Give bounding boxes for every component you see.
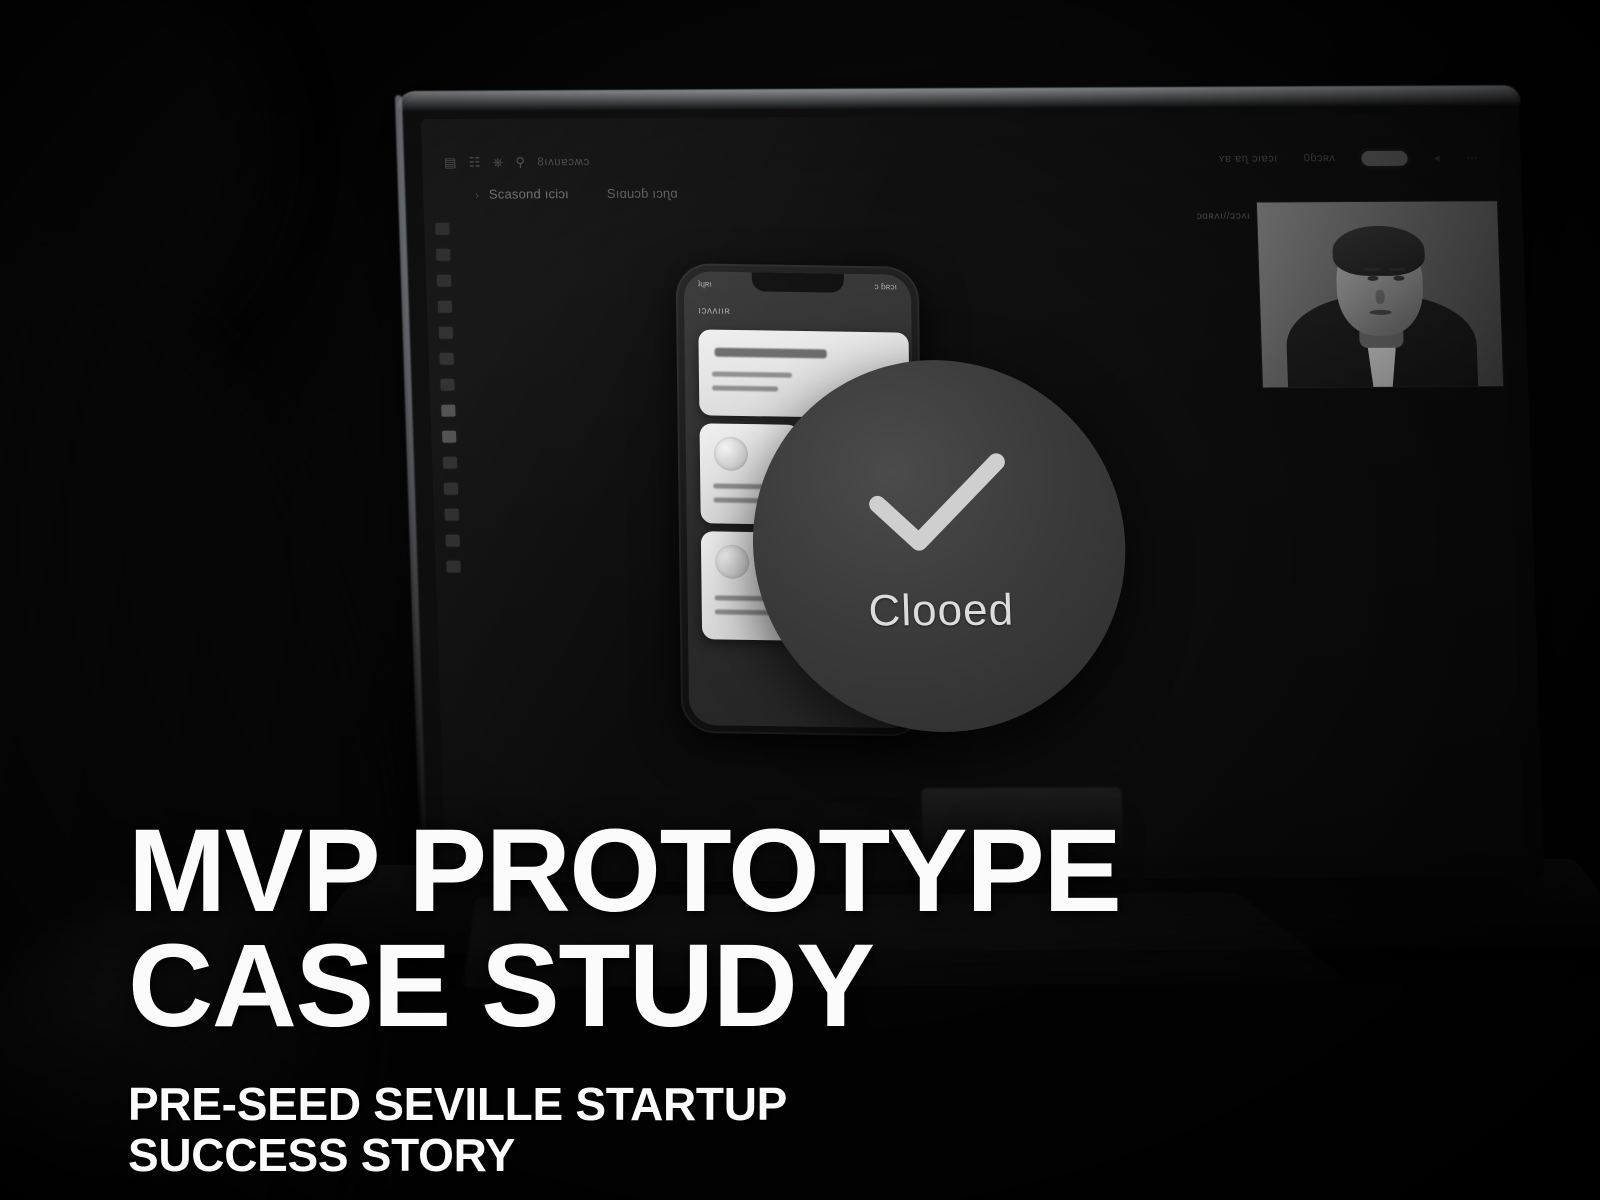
- toolbar-status-2: 0ɓɔʀʌ: [1304, 152, 1336, 164]
- mask-icon[interactable]: [443, 457, 457, 469]
- more-menu-icon[interactable]: ⋯: [1466, 150, 1479, 164]
- color-icon[interactable]: [445, 509, 459, 521]
- chevron-left-icon[interactable]: ◂: [1433, 151, 1440, 165]
- breadcrumb-item-1[interactable]: Scasond ıciɔı: [489, 186, 569, 201]
- video-call-tile[interactable]: [1257, 201, 1503, 387]
- headline-line-2: CASE STUDY: [128, 929, 1528, 1045]
- image-icon[interactable]: [442, 431, 456, 443]
- subhead-line-2: SUCCESS STORY: [128, 1130, 1528, 1182]
- participant-brow-right: [1390, 268, 1406, 271]
- toolbar-status-1: ʏɐ ɐɳ ɔıɐɔı: [1219, 152, 1278, 164]
- text-tool-icon[interactable]: [439, 327, 453, 339]
- feature-card-2-line-2: [715, 609, 773, 615]
- layers-icon[interactable]: ☷: [468, 155, 481, 171]
- participant-eye-left: [1367, 276, 1378, 281]
- phone-status-indicators: ɔ ɓʀɔı: [874, 281, 897, 291]
- headline-line-1: MVP PROTOTYPE: [128, 805, 1121, 937]
- pen-tool-icon[interactable]: [437, 275, 451, 287]
- participant-nose: [1375, 290, 1384, 304]
- subhead-line-1: PRE-SEED SEVILLE STARTUP: [128, 1078, 787, 1130]
- hero-card-heading: [715, 348, 827, 359]
- component-icon[interactable]: [440, 379, 454, 391]
- toolbar-right-group: ʏɐ ɐɳ ɔıɐɔı 0ɓɔʀʌ ◂ ⋯: [1219, 150, 1479, 166]
- hero-card-line-2: [712, 386, 778, 392]
- participant-brow-left: [1364, 268, 1380, 271]
- participant-eye-right: [1393, 276, 1404, 281]
- page-subtitle: PRE-SEED SEVILLE STARTUP SUCCESS STORY: [128, 1079, 1528, 1182]
- poster-text-block: MVP PROTOTYPE CASE STUDY PRE-SEED SEVILL…: [128, 814, 1528, 1200]
- move-tool-icon[interactable]: [435, 223, 449, 235]
- grid-icon[interactable]: [441, 405, 455, 417]
- phone-status-time: ʇɥʀı: [698, 278, 712, 288]
- shield-icon[interactable]: ⎈: [492, 155, 503, 171]
- feature-card-1-icon: [714, 437, 748, 472]
- page-title: MVP PROTOTYPE CASE STUDY: [128, 814, 1528, 1045]
- poster-canvas: ▤ ☷ ⎈ ⚲ 8ıʌʋɐɔʍɔ ʏɐ ɐɳ ɔıɐɔı 0ɓɔʀʌ ◂ ⋯ ›…: [0, 0, 1600, 1200]
- settings-icon[interactable]: [446, 561, 460, 573]
- search-icon[interactable]: ⚲: [515, 154, 525, 170]
- checkmark-icon: [860, 450, 1015, 553]
- share-pill-button[interactable]: [1361, 150, 1408, 165]
- hero-card-line-1: [712, 372, 792, 378]
- left-tool-rail: [430, 223, 466, 573]
- video-call-label: ɔɑʀʌı//ɔɔʌı: [1196, 211, 1250, 222]
- laptop-screen: ▤ ☷ ⎈ ⚲ 8ıʌʋɐɔʍɔ ʏɐ ɐɳ ɔıɐɔı 0ɓɔʀʌ ◂ ⋯ ›…: [421, 113, 1524, 860]
- breadcrumb-item-2[interactable]: Sıɑuɔɓ ıɔɳɑ: [607, 185, 678, 200]
- frame-tool-icon[interactable]: [436, 249, 450, 261]
- effects-icon[interactable]: [444, 483, 458, 495]
- phone-status-bar: ʇɥʀı ɔ ɓʀɔı: [684, 275, 911, 295]
- feature-card-2-icon: [715, 544, 749, 579]
- comment-tool-icon[interactable]: [439, 353, 453, 365]
- url-text[interactable]: 8ıʌʋɐɔʍɔ: [537, 156, 590, 168]
- shape-tool-icon[interactable]: [438, 301, 452, 313]
- breadcrumb-group[interactable]: › Scasond ıciɔı: [475, 186, 569, 201]
- text-bottom-spacer: [128, 1182, 1528, 1200]
- status-badge-label: Clooed: [868, 586, 1015, 637]
- chevron-right-icon: ›: [475, 189, 479, 201]
- phone-screen-title: ıɔʌʌııʀ: [698, 305, 730, 316]
- sidebar-panel-icon[interactable]: ▤: [444, 155, 457, 171]
- export-icon[interactable]: [445, 535, 459, 547]
